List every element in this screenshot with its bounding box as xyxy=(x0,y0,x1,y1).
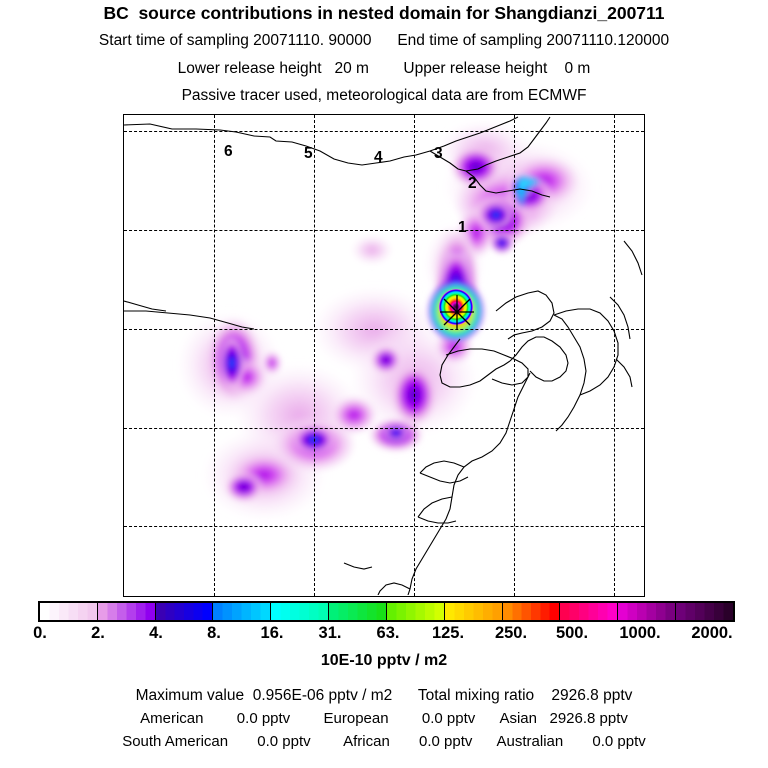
colorbar-tick-63: 63. xyxy=(377,624,400,643)
page-title: BC source contributions in nested domain… xyxy=(0,3,768,24)
colorbar[interactable] xyxy=(38,601,735,622)
colorbar-segment-12 xyxy=(675,603,733,620)
gridline-horizontal-2 xyxy=(124,230,644,231)
colorbar-tick-125: 125. xyxy=(432,624,464,643)
colorbar-unit-label: 10E-10 pptv / m2 xyxy=(0,652,768,670)
region-label-6: 6 xyxy=(224,143,233,161)
gridline-vertical-1 xyxy=(214,115,215,596)
gridline-vertical-5 xyxy=(614,115,615,596)
tracer-meteorology-line: Passive tracer used, meteorological data… xyxy=(0,87,768,105)
colorbar-tick-labels: 0. 2. 4. 8. 16. 31. 63. 125. 250. 500. 1… xyxy=(0,624,768,644)
colorbar-tick-2: 2. xyxy=(91,624,105,643)
stats-contributions-row1: American 0.0 pptv European 0.0 pptv Asia… xyxy=(0,710,768,727)
region-label-2: 2 xyxy=(468,175,477,193)
dispersion-map[interactable]: 6 5 4 3 2 1 xyxy=(123,114,645,597)
colorbar-tick-16: 16. xyxy=(261,624,284,643)
colorbar-segment-5 xyxy=(270,603,328,620)
gridline-horizontal-3 xyxy=(124,329,644,330)
colorbar-tick-8: 8. xyxy=(207,624,221,643)
map-canvas xyxy=(124,115,643,595)
region-label-3: 3 xyxy=(434,145,443,163)
stats-contributions-row2: South American 0.0 pptv African 0.0 pptv… xyxy=(0,733,768,750)
region-label-1: 1 xyxy=(458,219,467,237)
colorbar-tick-250: 250. xyxy=(495,624,527,643)
colorbar-segment-10 xyxy=(559,603,617,620)
colorbar-tick-500: 500. xyxy=(556,624,588,643)
colorbar-segment-7 xyxy=(386,603,444,620)
colorbar-segment-6 xyxy=(328,603,386,620)
colorbar-segment-1 xyxy=(40,603,97,620)
colorbar-segment-4 xyxy=(212,603,270,620)
colorbar-tick-0: 0. xyxy=(33,624,47,643)
colorbar-tick-4: 4. xyxy=(149,624,163,643)
gridline-horizontal-4 xyxy=(124,428,644,429)
release-height-line: Lower release height 20 m Upper release … xyxy=(0,60,768,78)
region-label-4: 4 xyxy=(374,149,383,167)
sampling-time-line: Start time of sampling 20071110. 90000 E… xyxy=(0,32,768,50)
colorbar-segment-9 xyxy=(502,603,560,620)
colorbar-segment-11 xyxy=(617,603,675,620)
gridline-horizontal-1 xyxy=(124,131,644,132)
colorbar-tick-2000: 2000. xyxy=(691,624,732,643)
release-site-star-icon xyxy=(438,293,476,331)
colorbar-tick-1000: 1000. xyxy=(619,624,660,643)
region-label-5: 5 xyxy=(304,145,313,163)
colorbar-segment-8 xyxy=(444,603,502,620)
gridline-vertical-4 xyxy=(514,115,515,596)
colorbar-segment-3 xyxy=(155,603,213,620)
colorbar-segment-2 xyxy=(97,603,155,620)
stats-maximum-line: Maximum value 0.956E-06 pptv / m2 Total … xyxy=(0,687,768,705)
colorbar-tick-31: 31. xyxy=(319,624,342,643)
gridline-horizontal-5 xyxy=(124,526,644,527)
gridline-vertical-2 xyxy=(314,115,315,596)
gridline-vertical-3 xyxy=(414,115,415,596)
